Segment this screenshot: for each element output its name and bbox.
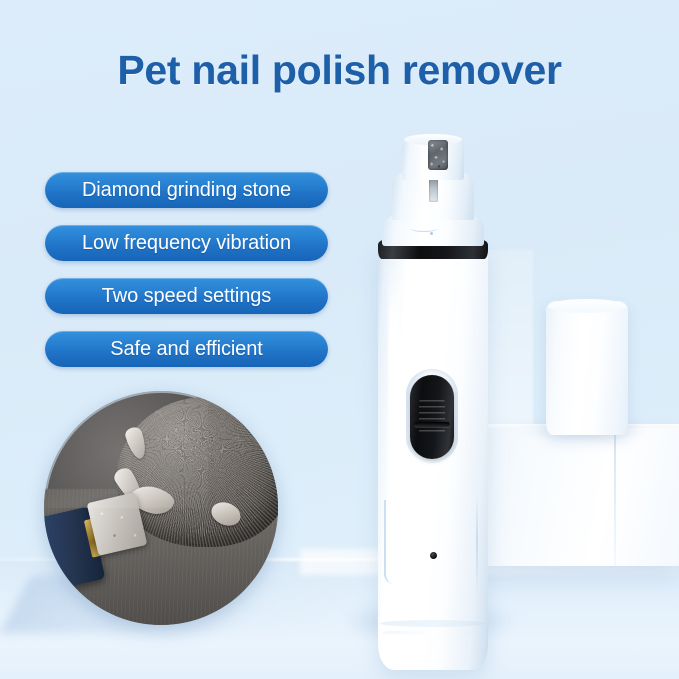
power-button-groove [414, 422, 450, 427]
feature-badge-two-speed-settings[interactable]: Two speed settings [45, 278, 328, 314]
paw-grinding-inset-photo [44, 391, 278, 625]
backdrop-wall [487, 250, 533, 436]
feature-badge-label: Safe and efficient [110, 338, 262, 361]
device-shoulder-dot [430, 232, 433, 235]
inset-glare [44, 391, 208, 508]
pedestal-block [487, 428, 679, 566]
device-body-seam-left [384, 500, 398, 584]
product-poster: Pet nail polish remover Diamond grinding… [0, 0, 679, 679]
feature-badge-label: Low frequency vibration [82, 232, 291, 255]
device-shoulder-marking [410, 224, 438, 232]
device-base-ring-inner [382, 630, 484, 635]
protective-cap-top [548, 299, 626, 313]
feature-badge-safe-and-efficient[interactable]: Safe and efficient [45, 331, 328, 367]
led-indicator-icon [430, 552, 437, 559]
feature-badge-label: Two speed settings [102, 285, 271, 308]
power-button-texture [419, 400, 445, 434]
page-title: Pet nail polish remover [0, 47, 679, 94]
device-body-seam-right [476, 494, 478, 592]
feature-badge-label: Diamond grinding stone [82, 179, 291, 202]
diamond-grinding-stone-icon [428, 140, 448, 170]
feature-badge-low-frequency-vibration[interactable]: Low frequency vibration [45, 225, 328, 261]
protective-cap [546, 301, 628, 435]
pet-nail-grinder-device [374, 132, 492, 679]
device-base-ring [380, 620, 486, 627]
feature-badge-list: Diamond grinding stone Low frequency vib… [45, 172, 328, 384]
pedestal-seam [614, 428, 616, 566]
feature-badge-diamond-grinding-stone[interactable]: Diamond grinding stone [45, 172, 328, 208]
